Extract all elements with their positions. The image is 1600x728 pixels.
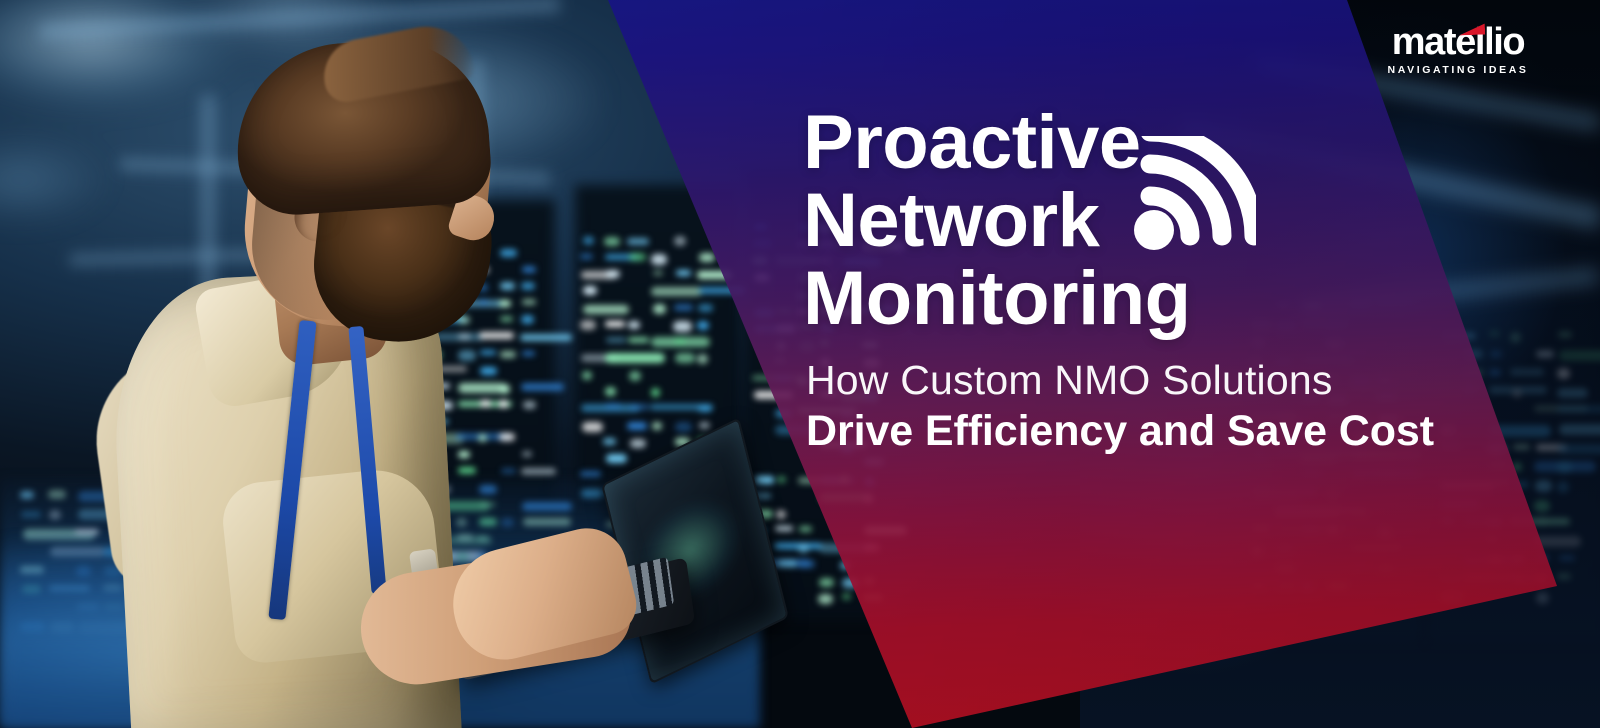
matellio-logo[interactable]: matellio NAVIGATING IDEAS: [1383, 23, 1533, 75]
subtitle-light: How Custom NMO Solutions: [806, 355, 1434, 405]
banner-content: Proactive Network Monitoring How Custom …: [0, 0, 1600, 728]
logo-wordmark: matellio: [1383, 23, 1533, 61]
logo-tagline: NAVIGATING IDEAS: [1383, 63, 1533, 77]
subtitle-block: How Custom NMO Solutions Drive Efficienc…: [806, 355, 1434, 457]
hero-banner: Proactive Network Monitoring How Custom …: [0, 0, 1600, 728]
wifi-signal-icon: [1128, 136, 1256, 254]
headline-line-3: Monitoring: [803, 260, 1191, 338]
subtitle-bold: Drive Efficiency and Save Cost: [806, 405, 1434, 457]
